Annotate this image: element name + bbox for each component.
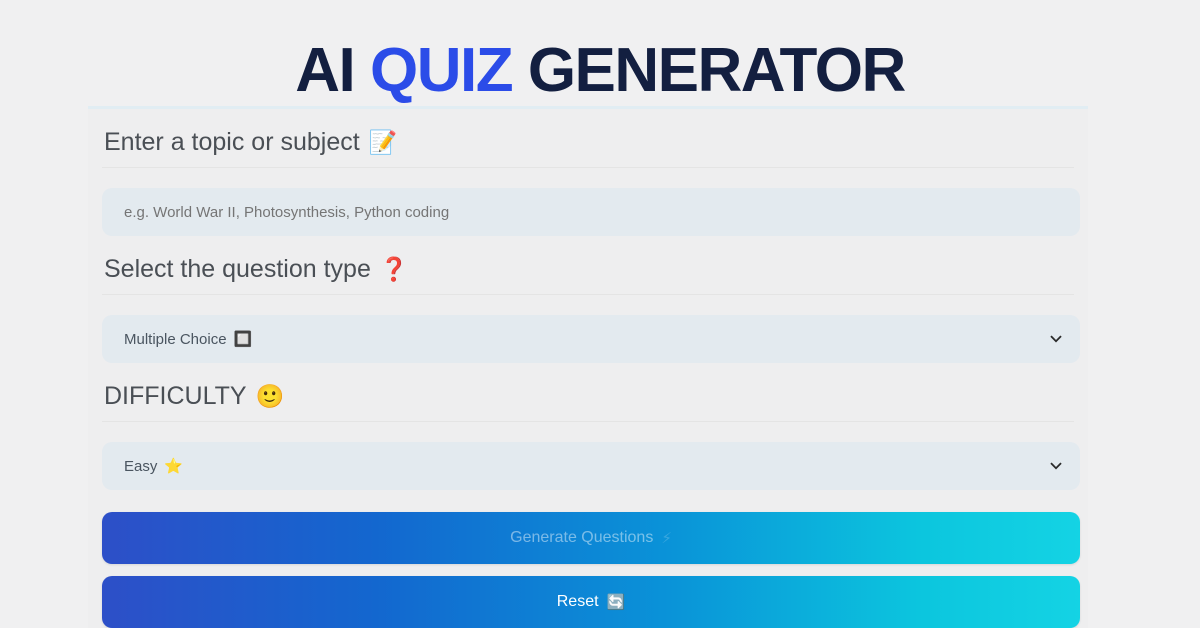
- generate-questions-label: Generate Questions: [510, 529, 653, 547]
- memo-icon: 📝: [369, 131, 398, 154]
- question-type-selected-text: Multiple Choice: [124, 331, 227, 348]
- difficulty-select[interactable]: Easy ⭐: [102, 442, 1080, 490]
- generate-questions-button[interactable]: Generate Questions ⚡: [102, 512, 1080, 564]
- topic-input[interactable]: [102, 188, 1080, 236]
- chevron-down-icon[interactable]: [1050, 333, 1062, 345]
- reset-button[interactable]: Reset 🔄: [102, 576, 1080, 628]
- difficulty-label: DIFFICULTY 🙂: [102, 381, 1074, 422]
- difficulty-field-group: DIFFICULTY 🙂 Easy ⭐: [102, 363, 1074, 490]
- page-title: AI QUIZ GENERATOR: [0, 0, 1200, 102]
- question-type-selected-value: Multiple Choice 🔲: [124, 330, 252, 348]
- red-question-mark-icon: ❓: [380, 258, 409, 281]
- question-type-select[interactable]: Multiple Choice 🔲: [102, 315, 1080, 363]
- difficulty-label-text: DIFFICULTY: [104, 381, 247, 411]
- quiz-form-card: Enter a topic or subject 📝 Select the qu…: [88, 106, 1088, 628]
- lightning-bolt-icon: ⚡: [661, 529, 672, 547]
- refresh-arrows-icon: 🔄: [607, 593, 626, 611]
- black-square-button-icon: 🔲: [234, 330, 253, 348]
- chevron-down-icon[interactable]: [1050, 460, 1062, 472]
- question-type-field-group: Select the question type ❓ Multiple Choi…: [102, 236, 1074, 363]
- star-icon: ⭐: [164, 457, 183, 475]
- difficulty-selected-value: Easy ⭐: [124, 457, 183, 475]
- page-title-suffix: GENERATOR: [512, 36, 905, 105]
- difficulty-selected-text: Easy: [124, 458, 157, 475]
- topic-label: Enter a topic or subject 📝: [102, 127, 1074, 168]
- page-title-prefix: AI: [295, 36, 370, 105]
- slightly-smiling-face-icon: 🙂: [256, 385, 285, 408]
- page-title-accent: QUIZ: [370, 36, 512, 105]
- topic-field-group: Enter a topic or subject 📝: [102, 109, 1074, 236]
- topic-label-text: Enter a topic or subject: [104, 127, 360, 157]
- reset-label: Reset: [557, 593, 599, 611]
- question-type-label: Select the question type ❓: [102, 254, 1074, 295]
- question-type-label-text: Select the question type: [104, 254, 371, 284]
